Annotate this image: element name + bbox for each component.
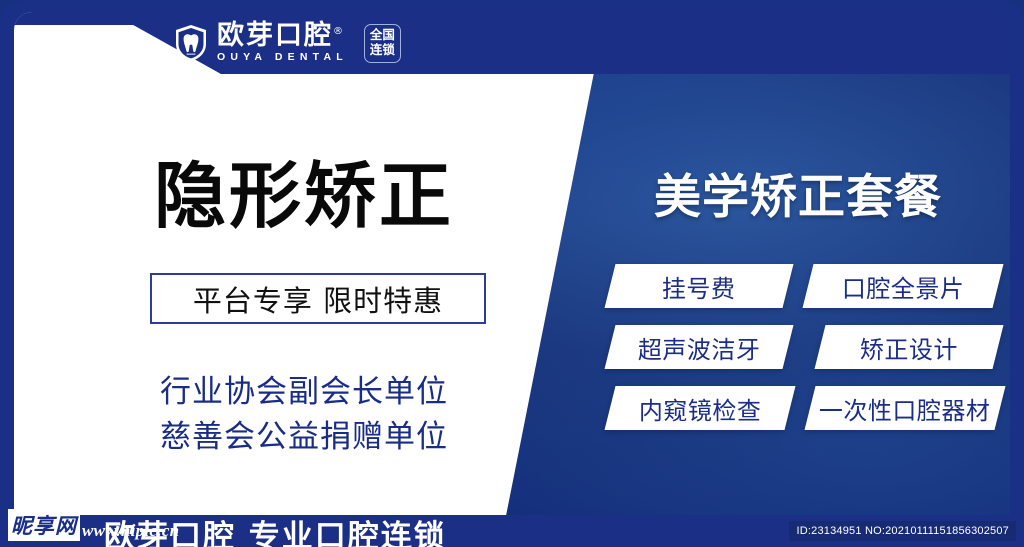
package-item-tag: 挂号费 [605, 264, 794, 308]
asset-id-watermark: ID:23134951 NO:20210111151856302507 [789, 521, 1016, 541]
registered-mark: ® [333, 26, 345, 37]
site-watermark-url: www.nipic.cn [82, 521, 179, 541]
chain-badge: 全国 连锁 [364, 24, 401, 63]
package-item-tag: 口腔全景片 [803, 264, 1004, 308]
credential-line-1: 行业协会副会长单位 [160, 370, 448, 415]
package-title: 美学矫正套餐 [654, 158, 942, 227]
poster-inner: 欧芽口腔® OUYA DENTAL 全国 连锁 隐形矫正 平台专享 限时特惠 行… [14, 12, 1010, 547]
package-items-list: 挂号费 口腔全景片 超声波洁牙 矫正设计 内窥镜检查 一次性口腔器材 [610, 264, 1010, 447]
package-items-row: 超声波洁牙 矫正设计 [610, 325, 1010, 369]
package-item-tag: 内窥镜检查 [605, 386, 796, 430]
shield-tooth-icon [174, 24, 208, 62]
package-item-tag: 超声波洁牙 [605, 325, 794, 369]
promo-box: 平台专享 限时特惠 [150, 273, 486, 324]
poster-canvas: 欧芽口腔® OUYA DENTAL 全国 连锁 隐形矫正 平台专享 限时特惠 行… [0, 0, 1024, 547]
package-item-label: 口腔全景片 [842, 269, 965, 304]
site-watermark-logo: 昵享网 [8, 509, 80, 541]
package-item-label: 内窥镜检查 [639, 391, 762, 426]
header-top-edge [14, 12, 1010, 25]
brand-name-cn: 欧芽口腔® [217, 22, 348, 50]
site-watermark: 昵享网 www.nipic.cn [8, 509, 179, 541]
package-item-tag: 一次性口腔器材 [805, 386, 1006, 430]
package-items-row: 挂号费 口腔全景片 [610, 264, 1010, 308]
chain-badge-line1: 全国 [370, 28, 395, 43]
package-item-label: 超声波洁牙 [638, 330, 761, 365]
brand-wordmark: 欧芽口腔® OUYA DENTAL [217, 22, 348, 64]
brand-name-cn-text: 欧芽口腔 [217, 20, 333, 51]
credential-line-2: 慈善会公益捐赠单位 [160, 415, 448, 460]
brand-name-en: OUYA DENTAL [217, 51, 348, 64]
package-item-tag: 矫正设计 [815, 325, 1004, 369]
package-item-label: 挂号费 [662, 269, 736, 304]
chain-badge-line2: 连锁 [370, 43, 395, 58]
credentials-block: 行业协会副会长单位 慈善会公益捐赠单位 [160, 370, 448, 460]
package-item-label: 一次性口腔器材 [819, 391, 991, 426]
main-headline: 隐形矫正 [154, 160, 454, 232]
promo-text: 平台专享 限时特惠 [193, 278, 443, 320]
package-item-label: 矫正设计 [860, 330, 958, 365]
package-items-row: 内窥镜检查 一次性口腔器材 [610, 386, 1010, 430]
brand-logo: 欧芽口腔® OUYA DENTAL 全国 连锁 [174, 20, 401, 66]
